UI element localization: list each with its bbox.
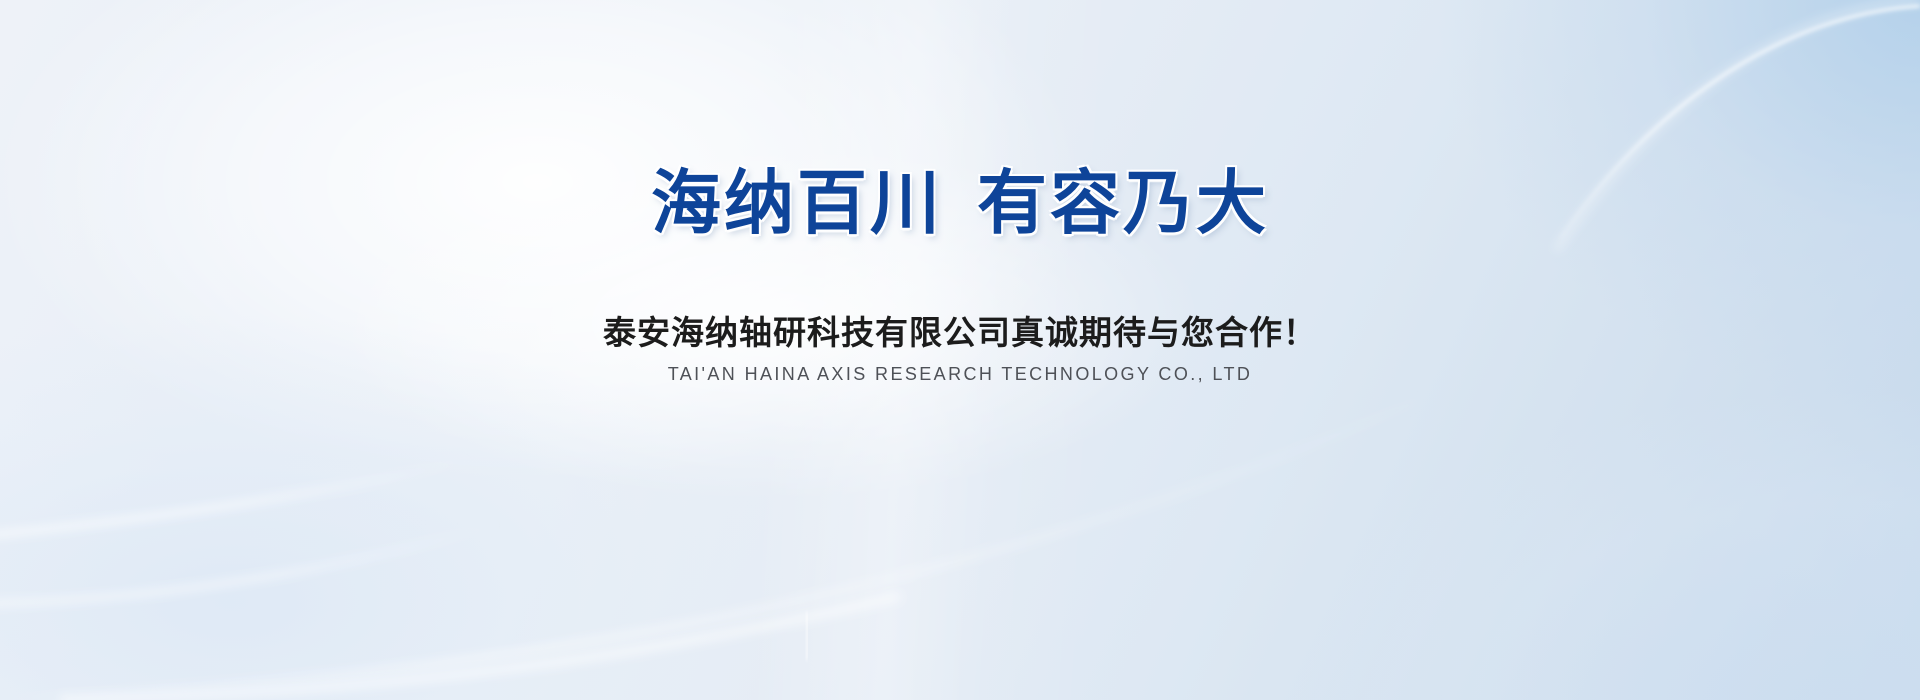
- hero-banner: 海纳百川有容乃大 泰安海纳轴研科技有限公司真诚期待与您合作！ TAI'AN HA…: [0, 0, 1920, 700]
- banner-content: 海纳百川有容乃大 泰安海纳轴研科技有限公司真诚期待与您合作！ TAI'AN HA…: [0, 0, 1920, 700]
- page-title: 海纳百川有容乃大: [0, 166, 1920, 242]
- headline-part-1: 海纳百川: [651, 164, 943, 242]
- subtitle-chinese: 泰安海纳轴研科技有限公司真诚期待与您合作！: [0, 312, 1920, 353]
- headline-part-2: 有容乃大: [977, 164, 1269, 242]
- subtitle-english: TAI'AN HAINA AXIS RESEARCH TECHNOLOGY CO…: [0, 362, 1920, 387]
